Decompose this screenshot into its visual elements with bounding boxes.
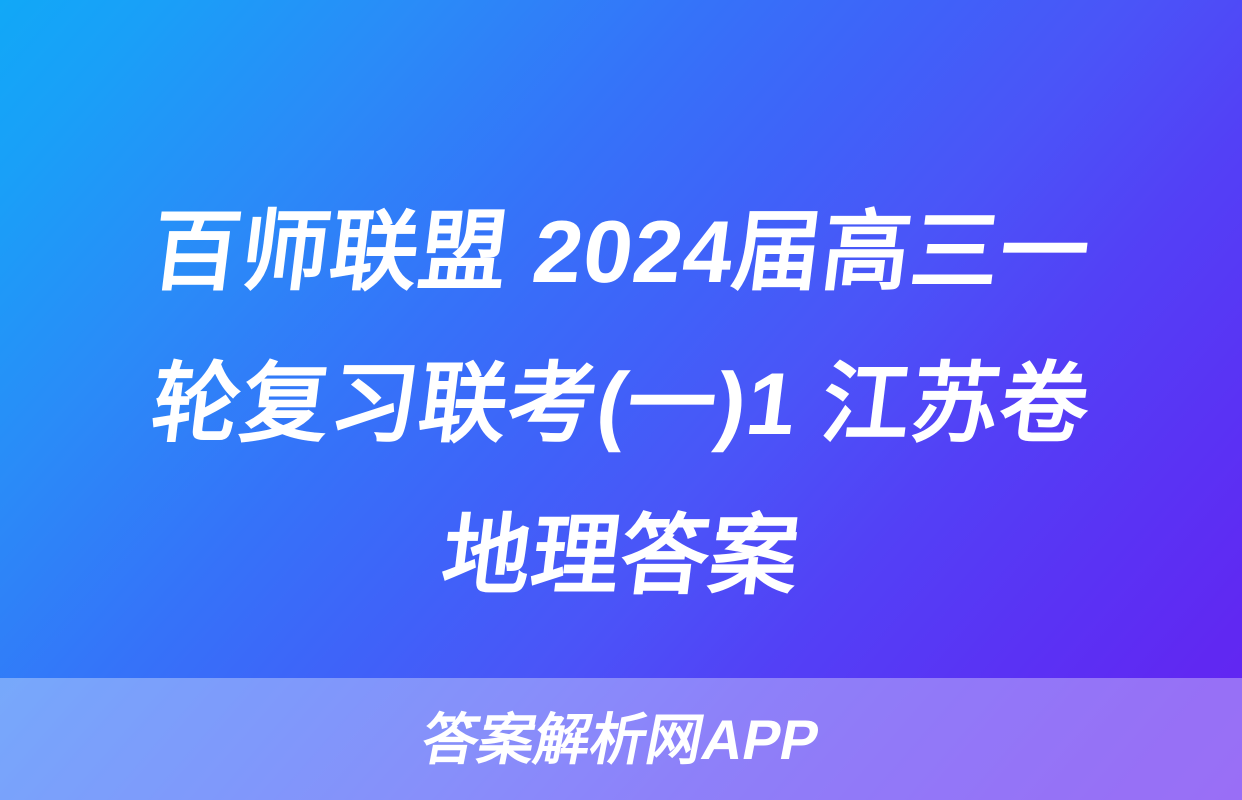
poster-canvas: 百师联盟 2024届高三一 轮复习联考(一)1 江苏卷 地理答案 答案解析网AP…: [0, 0, 1242, 800]
app-promo-label: 答案解析网APP: [418, 712, 824, 768]
app-promo-banner[interactable]: 答案解析网APP: [0, 678, 1242, 800]
headline-line-3: 地理答案: [39, 480, 1204, 632]
headline-line-2: 轮复习联考(一)1 江苏卷: [39, 328, 1204, 480]
headline-line-1: 百师联盟 2024届高三一: [39, 176, 1204, 328]
page-title: 百师联盟 2024届高三一 轮复习联考(一)1 江苏卷 地理答案: [0, 176, 1242, 632]
